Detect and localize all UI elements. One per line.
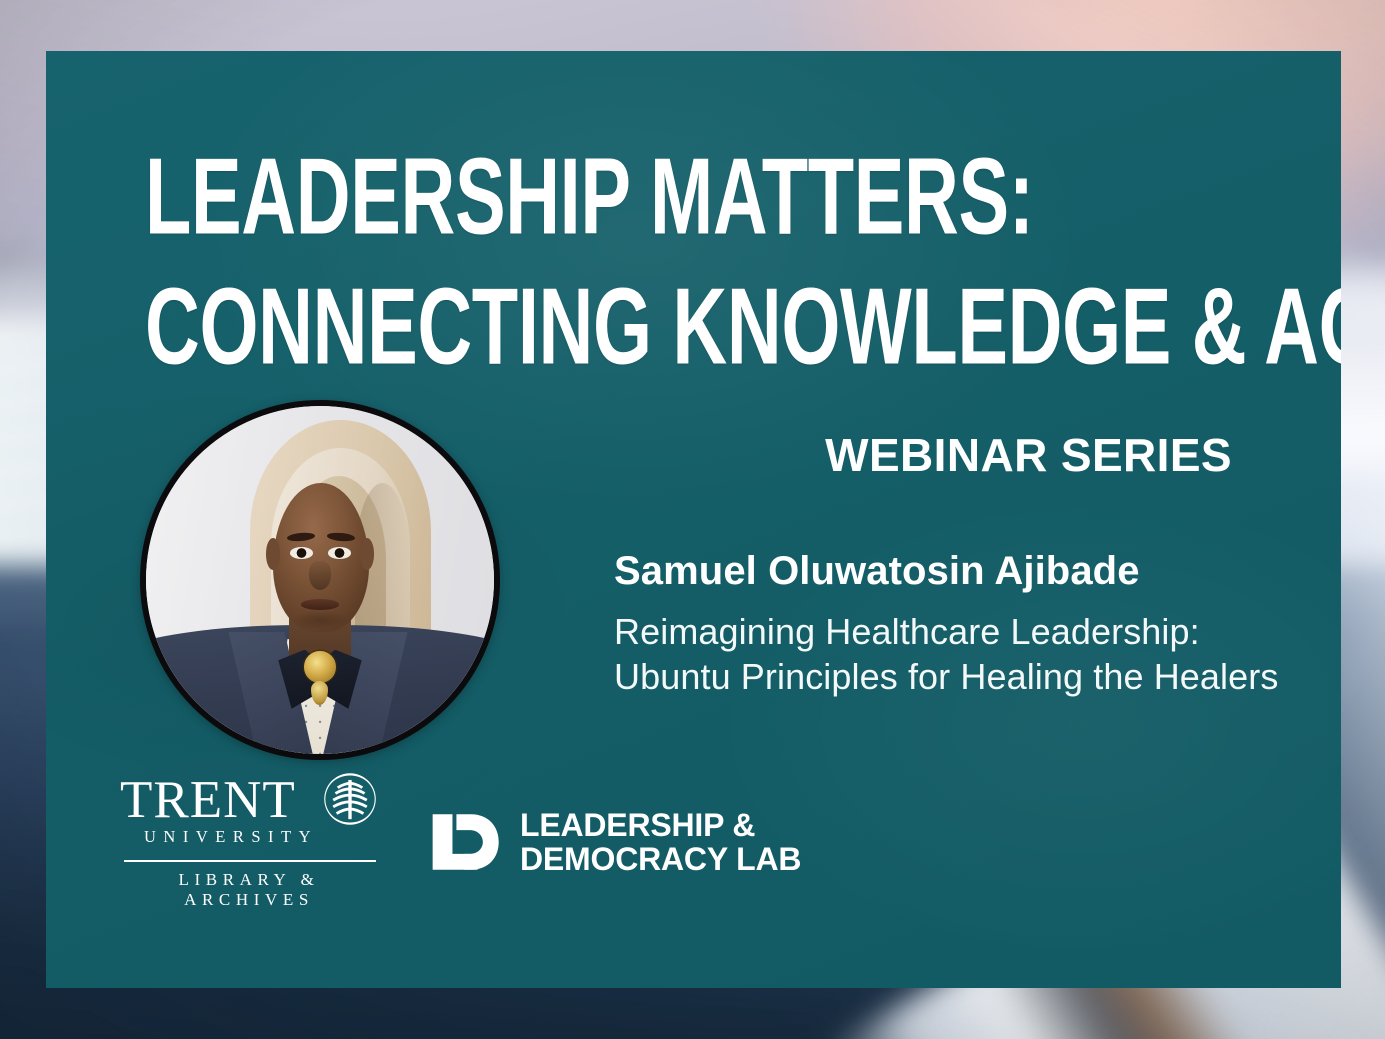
- trent-university-label: UNIVERSITY: [120, 827, 320, 847]
- logo-row: TRENT UNIVERSITY LIBRARY & ARCHIVES: [120, 775, 801, 910]
- speaker-name: Samuel Oluwatosin Ajibade: [614, 549, 1314, 593]
- portrait-ear-right: [360, 538, 374, 569]
- trent-wordmark: TRENT UNIVERSITY: [120, 775, 320, 848]
- portrait-eye-right: [328, 547, 350, 559]
- trent-name: TRENT: [120, 775, 320, 826]
- trent-unit-label: LIBRARY & ARCHIVES: [120, 870, 378, 910]
- webinar-series-kicker: WEBINAR SERIES: [825, 428, 1232, 482]
- ld-line-2: DEMOCRACY LAB: [520, 844, 801, 875]
- portrait-mouth: [301, 599, 339, 609]
- portrait-scene: [146, 406, 494, 754]
- headline-block: LEADERSHIP MATTERS: CONNECTING KNOWLEDGE…: [145, 147, 1325, 375]
- ld-line-1: LEADERSHIP &: [520, 810, 801, 841]
- headline-line-2: CONNECTING KNOWLEDGE & ACTION: [145, 277, 1006, 379]
- headline-line-1: LEADERSHIP MATTERS:: [145, 147, 1006, 249]
- ld-monogram-icon: [430, 810, 504, 874]
- trent-divider: [124, 860, 376, 862]
- ld-wordmark: LEADERSHIP & DEMOCRACY LAB: [520, 810, 801, 875]
- promo-card: LEADERSHIP MATTERS: CONNECTING KNOWLEDGE…: [46, 51, 1341, 988]
- speaker-block: Samuel Oluwatosin Ajibade Reimagining He…: [614, 549, 1314, 700]
- talk-title: Reimagining Healthcare Leadership: Ubunt…: [614, 609, 1314, 700]
- leadership-democracy-lab-logo: LEADERSHIP & DEMOCRACY LAB: [430, 810, 801, 875]
- trent-university-logo: TRENT UNIVERSITY LIBRARY & ARCHIVES: [120, 775, 378, 910]
- trent-wordmark-row: TRENT UNIVERSITY: [120, 775, 378, 848]
- speaker-portrait: [140, 400, 500, 760]
- trent-tree-emblem-icon: [322, 771, 378, 827]
- portrait-brooch: [304, 651, 335, 682]
- portrait-chin-shadow: [292, 610, 348, 631]
- portrait-eye-left: [290, 547, 312, 559]
